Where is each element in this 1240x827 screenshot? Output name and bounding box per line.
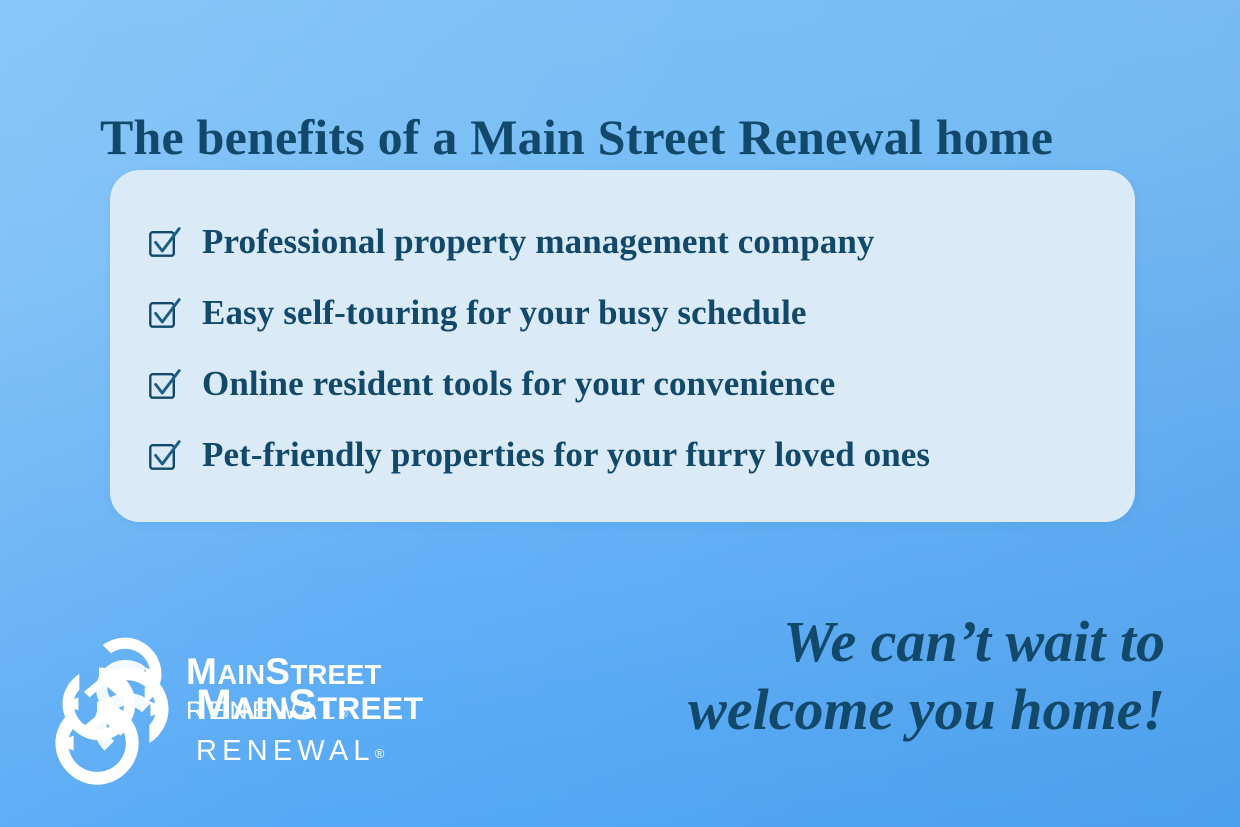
brand-logo-lower: MAINSTREET RENEWAL®	[48, 661, 423, 789]
logo-subtext-label: RENEWAL	[196, 735, 375, 767]
benefit-label: Pet-friendly properties for your furry l…	[202, 435, 930, 475]
registered-trademark-icon: ®	[375, 746, 385, 761]
benefits-card: Professional property management company…	[110, 170, 1135, 522]
logo-wordmark-group: MAINSTREET RENEWAL®	[196, 684, 423, 766]
tagline-line-1: We can’t wait to	[565, 608, 1165, 676]
mainstreet-renewal-mark-icon	[48, 661, 176, 789]
checkbox-checked-icon	[148, 367, 182, 401]
list-item: Easy self-touring for your busy schedule	[148, 277, 1115, 348]
checkbox-checked-icon	[148, 438, 182, 472]
list-item: Online resident tools for your convenien…	[148, 348, 1115, 419]
benefit-label: Easy self-touring for your busy schedule	[202, 293, 807, 333]
checkbox-checked-icon	[148, 225, 182, 259]
logo-wordmark-ain: AIN	[232, 690, 288, 726]
benefits-list: Professional property management company…	[148, 206, 1115, 490]
checkbox-checked-icon	[148, 296, 182, 330]
page-title: The benefits of a Main Street Renewal ho…	[100, 107, 1160, 167]
tagline-line-2: welcome you home!	[565, 676, 1165, 744]
benefit-label: Online resident tools for your convenien…	[202, 364, 835, 404]
logo-subtext: RENEWAL®	[196, 737, 423, 766]
logo-wordmark-treet: TREET	[317, 690, 423, 726]
list-item: Professional property management company	[148, 206, 1115, 277]
logo-wordmark: MAINSTREET	[196, 684, 423, 727]
promo-poster: The benefits of a Main Street Renewal ho…	[0, 0, 1240, 827]
tagline: We can’t wait to welcome you home!	[565, 608, 1165, 744]
benefit-label: Professional property management company	[202, 222, 875, 262]
list-item: Pet-friendly properties for your furry l…	[148, 419, 1115, 490]
